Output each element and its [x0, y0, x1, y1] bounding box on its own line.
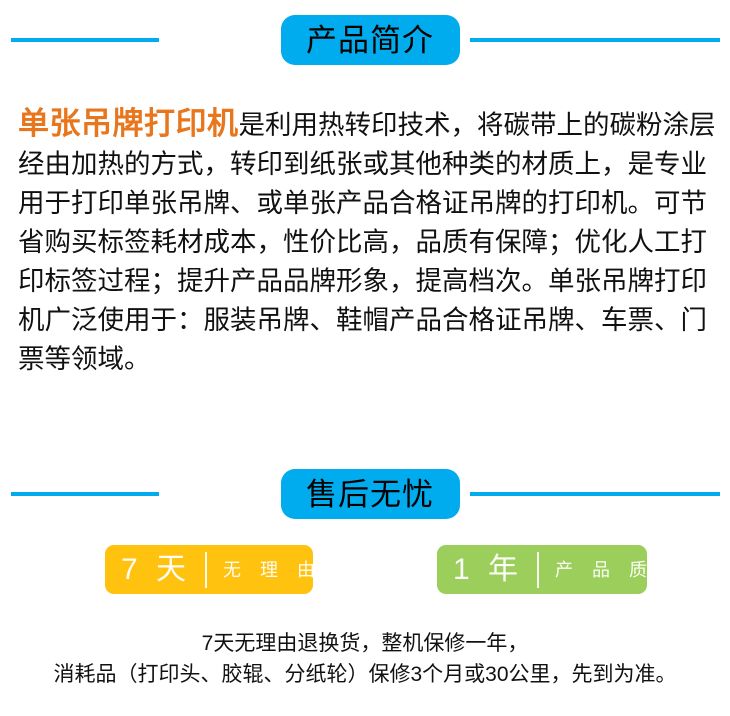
product-lead-phrase: 单张吊牌打印机 [18, 106, 239, 141]
after-sales-note-line: 消耗品（打印头、胶辊、分纸轮）保修3个月或30公里，先到为准。 [0, 659, 730, 690]
guarantee-description: 产 品 质 保 [539, 561, 691, 579]
after-sales-note-line: 7天无理由退换货，整机保修一年， [0, 628, 730, 659]
guarantee-term: 7 天 [121, 555, 205, 585]
product-intro-paragraph: 单张吊牌打印机是利用热转印技术，将碳带上的碳粉涂层经由加热的方式，转印到纸张或其… [18, 104, 718, 379]
header-badge-product-intro: 产品简介 [281, 15, 460, 65]
product-intro-block: 单张吊牌打印机是利用热转印技术，将碳带上的碳粉涂层经由加热的方式，转印到纸张或其… [18, 104, 718, 379]
guarantee-badge-row: 7 天 无 理 由 退 货 1 年 产 品 质 保 [0, 545, 730, 595]
guarantee-badge-return: 7 天 无 理 由 退 货 [105, 545, 313, 594]
product-intro-body: 是利用热转印技术，将碳带上的碳粉涂层经由加热的方式，转印到纸张或其他种类的材质上… [18, 110, 716, 374]
header-rule-left-after-sales [11, 492, 159, 496]
section-header-after-sales: 售后无忧 [0, 462, 730, 526]
product-detail-page: 产品简介 单张吊牌打印机是利用热转印技术，将碳带上的碳粉涂层经由加热的方式，转印… [0, 0, 730, 716]
header-rule-right [470, 38, 720, 42]
header-rule-right-after-sales [470, 492, 720, 496]
guarantee-term: 1 年 [453, 555, 537, 585]
section-header-product-intro: 产品简介 [0, 8, 730, 72]
after-sales-notes: 7天无理由退换货，整机保修一年， 消耗品（打印头、胶辊、分纸轮）保修3个月或30… [0, 628, 730, 690]
header-badge-label: 售后无忧 [306, 479, 434, 510]
header-badge-after-sales: 售后无忧 [281, 469, 460, 519]
header-badge-label: 产品简介 [306, 25, 434, 56]
guarantee-description: 无 理 由 退 货 [207, 561, 396, 579]
guarantee-badge-warranty: 1 年 产 品 质 保 [437, 545, 647, 594]
header-rule-left [11, 38, 159, 42]
